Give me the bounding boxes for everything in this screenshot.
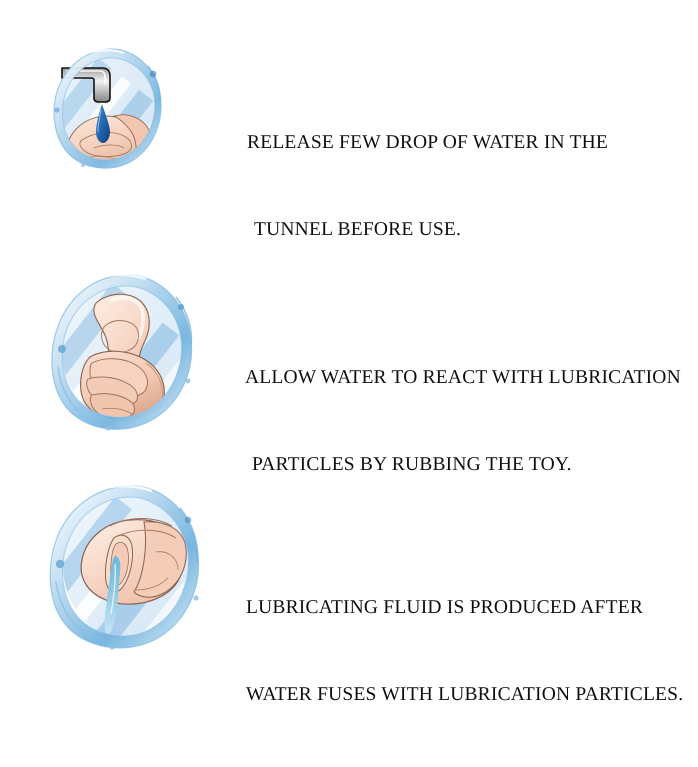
instruction-step-3: LUBRICATING FLUID IS PRODUCED AFTER WATE… xyxy=(0,478,698,668)
instruction-step-2: ALLOW WATER TO REACT WITH LUBRICATION PA… xyxy=(0,265,698,450)
step-1-caption-line-1: RELEASE FEW DROP OF WATER IN THE xyxy=(247,128,608,157)
step-1-caption-line-2: TUNNEL BEFORE USE. xyxy=(247,215,608,244)
instruction-step-1: RELEASE FEW DROP OF WATER IN THE TUNNEL … xyxy=(0,40,698,230)
instruction-sheet: RELEASE FEW DROP OF WATER IN THE TUNNEL … xyxy=(0,0,698,698)
step-2-caption-line-1: ALLOW WATER TO REACT WITH LUBRICATION xyxy=(245,363,681,392)
step-2-caption-line-2: PARTICLES BY RUBBING THE TOY. xyxy=(245,450,681,479)
illustration-faucet-dripping-water-on-toy xyxy=(48,44,170,172)
step-3-caption: LUBRICATING FLUID IS PRODUCED AFTER WATE… xyxy=(246,535,683,767)
illustration-toy-producing-lubricating-fluid xyxy=(48,482,208,652)
step-3-caption-line-1: LUBRICATING FLUID IS PRODUCED AFTER xyxy=(246,593,683,622)
step-3-caption-line-2: WATER FUSES WITH LUBRICATION PARTICLES. xyxy=(246,680,683,709)
illustration-hand-rubbing-toy xyxy=(48,271,200,433)
